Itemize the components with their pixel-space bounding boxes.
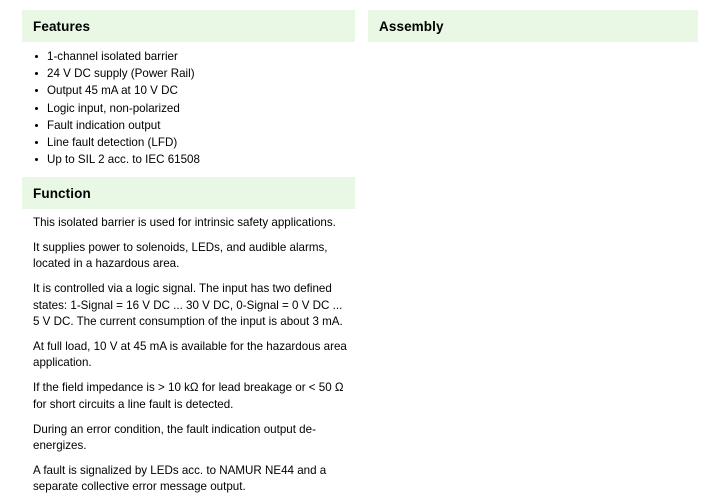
function-paragraph: This isolated barrier is used for intrin… — [33, 215, 351, 231]
list-item: 24 V DC supply (Power Rail) — [33, 65, 353, 82]
features-title: Features — [33, 19, 90, 34]
list-item: Fault indication output — [33, 117, 353, 134]
list-item: 1-channel isolated barrier — [33, 48, 353, 65]
function-paragraph: At full load, 10 V at 45 mA is available… — [33, 339, 351, 372]
function-paragraph: It supplies power to solenoids, LEDs, an… — [33, 240, 351, 273]
left-column: Features 1-channel isolated barrier 24 V… — [0, 0, 360, 471]
features-list: 1-channel isolated barrier 24 V DC suppl… — [33, 48, 353, 168]
features-section-header: Features — [22, 10, 355, 42]
assembly-section-header: Assembly — [368, 10, 698, 42]
right-column: Assembly — [360, 0, 705, 471]
function-body: This isolated barrier is used for intrin… — [33, 215, 351, 504]
list-item: Output 45 mA at 10 V DC — [33, 82, 353, 99]
list-item: Logic input, non-polarized — [33, 100, 353, 117]
function-section-header: Function — [22, 177, 355, 209]
function-paragraph: It is controlled via a logic signal. The… — [33, 281, 351, 330]
list-item: Up to SIL 2 acc. to IEC 61508 — [33, 151, 353, 168]
function-paragraph: During an error condition, the fault ind… — [33, 422, 351, 455]
assembly-title: Assembly — [379, 19, 444, 34]
list-item: Line fault detection (LFD) — [33, 134, 353, 151]
function-title: Function — [33, 186, 91, 201]
function-paragraph: If the field impedance is > 10 kΩ for le… — [33, 380, 351, 413]
function-paragraph: A fault is signalized by LEDs acc. to NA… — [33, 463, 351, 496]
